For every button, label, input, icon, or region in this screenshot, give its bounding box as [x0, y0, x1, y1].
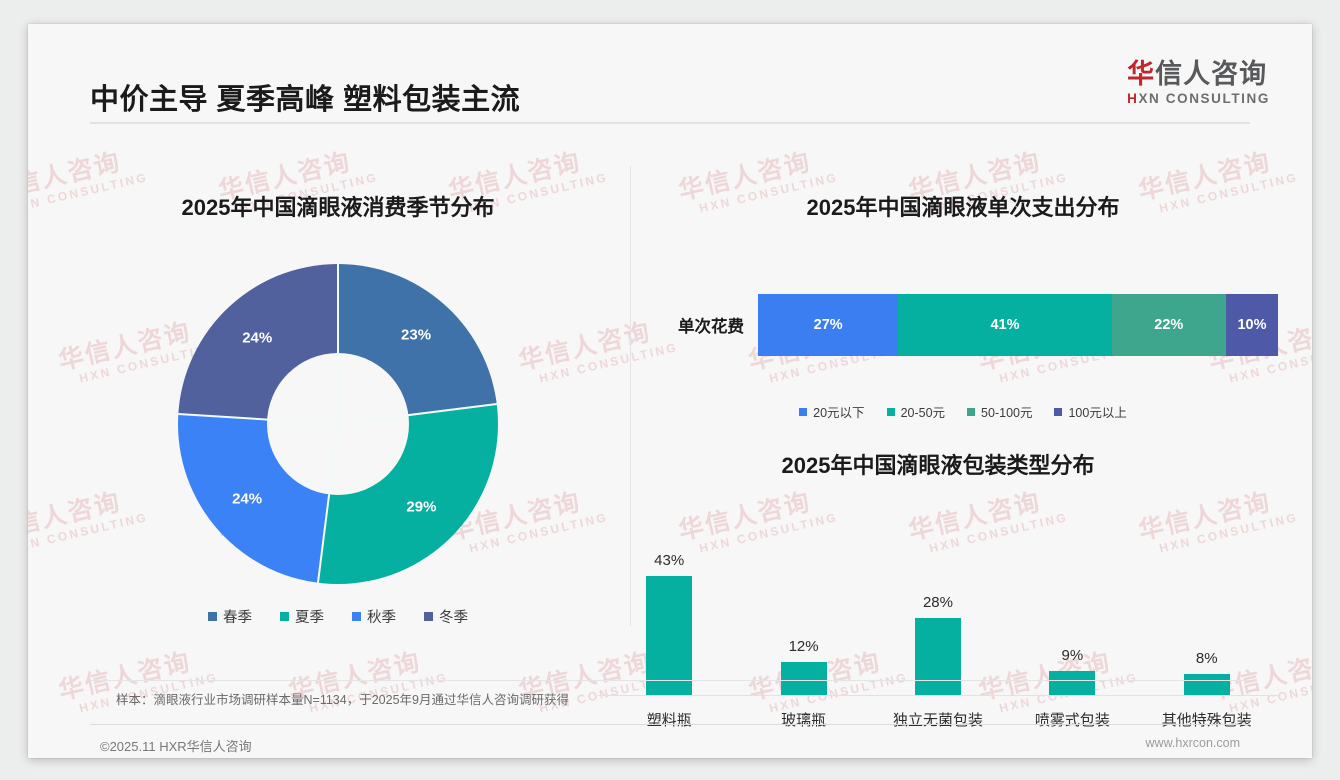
spend-bar-segment[interactable]: 27%	[758, 294, 898, 356]
footnote-divider	[90, 680, 1250, 681]
spend-distribution-panel: 2025年中国滴眼液单次支出分布 单次花费 27%41%22%10% 20元以下…	[648, 190, 1278, 421]
donut-slice-label: 24%	[242, 329, 272, 346]
packaging-category-label: 喷雾式包装	[1009, 709, 1137, 730]
season-distribution-panel: 2025年中国滴眼液消费季节分布 23%29%24%24% 春季夏季秋季冬季	[68, 190, 608, 627]
packaging-bar	[646, 576, 692, 696]
legend-color-swatch	[424, 612, 433, 621]
legend-label: 20元以下	[813, 402, 864, 421]
packaging-bar-item[interactable]: 43%	[605, 524, 733, 696]
donut-slice-label: 24%	[232, 491, 262, 508]
packaging-bar-item[interactable]: 9%	[1009, 524, 1137, 696]
packaging-category-label: 其他特殊包装	[1143, 709, 1271, 730]
season-legend-item[interactable]: 夏季	[280, 606, 324, 627]
legend-color-swatch	[967, 408, 975, 416]
packaging-axis-line	[598, 695, 1278, 696]
legend-color-swatch	[887, 408, 895, 416]
legend-color-swatch	[280, 612, 289, 621]
spend-bar-segment[interactable]: 22%	[1112, 294, 1226, 356]
legend-color-swatch	[208, 612, 217, 621]
season-legend: 春季夏季秋季冬季	[68, 606, 608, 627]
spend-legend-item[interactable]: 20-50元	[887, 402, 945, 421]
legend-label: 春季	[223, 606, 252, 627]
spend-bar-segment[interactable]: 10%	[1226, 294, 1278, 356]
spend-chart-title: 2025年中国滴眼液单次支出分布	[648, 190, 1278, 222]
packaging-bar	[1184, 674, 1230, 696]
copyright-text: ©2025.11 HXR华信人咨询	[100, 736, 252, 755]
packaging-category-label: 塑料瓶	[605, 709, 733, 730]
legend-label: 50-100元	[981, 402, 1032, 421]
spend-legend-item[interactable]: 50-100元	[967, 402, 1032, 421]
header-divider	[90, 122, 1250, 124]
page-title: 中价主导 夏季高峰 塑料包装主流	[90, 76, 520, 118]
legend-label: 20-50元	[901, 402, 945, 421]
packaging-bar-item[interactable]: 12%	[740, 524, 868, 696]
season-chart-title: 2025年中国滴眼液消费季节分布	[68, 190, 608, 222]
donut-slice-separator	[337, 264, 339, 424]
sample-footnote: 样本：滴眼液行业市场调研样本量N=1134，于2025年9月通过华信人咨询调研获…	[116, 689, 569, 708]
spend-legend-item[interactable]: 20元以下	[799, 402, 864, 421]
logo-cn-accent-char: 华	[1127, 59, 1155, 89]
spend-legend-item[interactable]: 100元以上	[1054, 402, 1126, 421]
spend-legend: 20元以下20-50元50-100元100元以上	[648, 402, 1278, 421]
season-legend-item[interactable]: 秋季	[352, 606, 396, 627]
packaging-category-label: 独立无菌包装	[874, 709, 1002, 730]
legend-color-swatch	[352, 612, 361, 621]
legend-color-swatch	[799, 408, 807, 416]
packaging-bar-value: 43%	[654, 552, 684, 569]
legend-label: 100元以上	[1068, 402, 1126, 421]
season-donut-chart: 23%29%24%24%	[178, 264, 498, 584]
donut-slice-label: 29%	[406, 499, 436, 516]
donut-slice-label: 23%	[401, 327, 431, 344]
packaging-bar-value: 8%	[1196, 650, 1218, 667]
website-link[interactable]: www.hxrcon.com	[1146, 736, 1240, 750]
packaging-chart-title: 2025年中国滴眼液包装类型分布	[588, 448, 1288, 480]
legend-label: 冬季	[439, 606, 468, 627]
packaging-bar	[1049, 671, 1095, 696]
logo-en-rest: XN CONSULTING	[1138, 91, 1270, 106]
packaging-bar-value: 12%	[789, 638, 819, 655]
logo-chinese-text: 华信人咨询	[1127, 60, 1270, 88]
logo-cn-rest: 信人咨询	[1155, 59, 1267, 89]
spend-bar-segment[interactable]: 41%	[898, 294, 1111, 356]
legend-color-swatch	[1054, 408, 1062, 416]
season-legend-item[interactable]: 冬季	[424, 606, 468, 627]
spend-category-label: 单次花费	[648, 313, 758, 337]
logo-en-accent-char: H	[1127, 91, 1138, 106]
packaging-category-label: 玻璃瓶	[740, 709, 868, 730]
packaging-bar-plot: 43%12%28%9%8%	[588, 524, 1288, 696]
slide-header: 中价主导 夏季高峰 塑料包装主流 华信人咨询 HXN CONSULTING	[28, 24, 1312, 128]
slide-footer: ©2025.11 HXR华信人咨询 www.hxrcon.com	[28, 730, 1312, 758]
spend-stacked-bar: 27%41%22%10%	[758, 294, 1278, 356]
brand-logo: 华信人咨询 HXN CONSULTING	[1127, 60, 1270, 106]
season-legend-item[interactable]: 春季	[208, 606, 252, 627]
packaging-bar-value: 9%	[1062, 647, 1084, 664]
packaging-bar	[915, 618, 961, 696]
packaging-bar-value: 28%	[923, 594, 953, 611]
logo-english-text: HXN CONSULTING	[1127, 91, 1270, 106]
slide-canvas: 华信人咨询HXN CONSULTING华信人咨询HXN CONSULTING华信…	[28, 24, 1312, 758]
spend-bar-row: 单次花费 27%41%22%10%	[648, 294, 1278, 356]
packaging-distribution-panel: 2025年中国滴眼液包装类型分布 43%12%28%9%8% 塑料瓶玻璃瓶独立无…	[588, 448, 1288, 730]
legend-label: 夏季	[295, 606, 324, 627]
packaging-bar-item[interactable]: 8%	[1143, 524, 1271, 696]
footer-divider	[90, 724, 1250, 725]
packaging-bar-item[interactable]: 28%	[874, 524, 1002, 696]
legend-label: 秋季	[367, 606, 396, 627]
packaging-axis-labels: 塑料瓶玻璃瓶独立无菌包装喷雾式包装其他特殊包装	[588, 709, 1288, 730]
